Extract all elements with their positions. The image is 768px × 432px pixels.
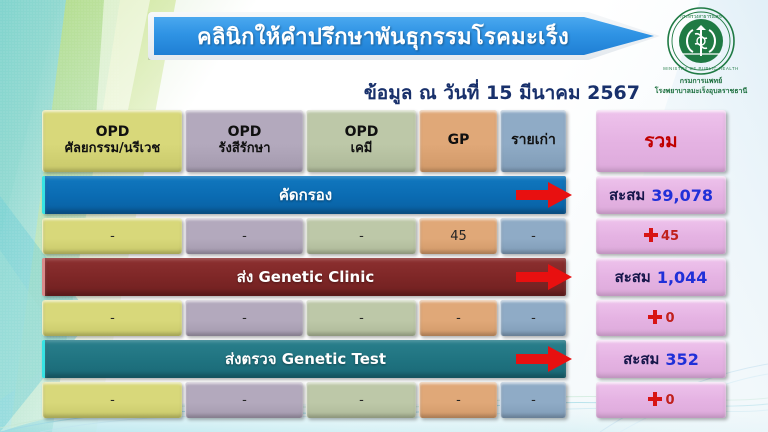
summary-cumulative-value: 1,044 xyxy=(657,268,708,287)
table-cell: - xyxy=(500,300,566,336)
pointer-arrow-icon xyxy=(516,346,572,372)
table-cell: - xyxy=(42,218,182,254)
table-cell: - xyxy=(306,218,416,254)
slide-title-banner: คลินิกให้คำปรึกษาพันธุกรรมโรคมะเร็ง xyxy=(148,12,660,60)
ministry-seal-icon: กระทรวงสาธารณสุข MINISTRY OF PUBLIC HEAL… xyxy=(659,6,743,76)
table-cell: - xyxy=(419,300,497,336)
summary-prefix-label: สะสม xyxy=(609,183,645,207)
column-header-line2: รังสีรักษา xyxy=(219,141,271,157)
summary-increment-value: 0 xyxy=(665,311,674,326)
svg-text:กระทรวงสาธารณสุข: กระทรวงสาธารณสุข xyxy=(680,14,721,20)
table-cell: - xyxy=(42,382,182,418)
table-cell: - xyxy=(185,218,303,254)
column-header-line2: ศัลยกรรม/นรีเวช xyxy=(65,141,160,157)
column-header-line1: รายเก่า xyxy=(511,133,556,148)
page-title: คลินิกให้คำปรึกษาพันธุกรรมโรคมะเร็ง xyxy=(197,19,611,54)
table-cell: - xyxy=(185,382,303,418)
summary-prefix-label: สะสม xyxy=(615,265,651,289)
table-cell: 45 xyxy=(419,218,497,254)
plus-icon xyxy=(643,226,659,246)
column-header-line1: OPD xyxy=(228,125,262,140)
table-cell: - xyxy=(500,382,566,418)
column-header-5: รายเก่า xyxy=(500,110,566,172)
data-as-of-date: ข้อมูล ณ วันที่ 15 มีนาคม 2567 xyxy=(364,78,640,108)
banner-label-blue: คัดกรอง xyxy=(42,176,566,214)
table-cell: - xyxy=(306,382,416,418)
summary-cumulative-value: 39,078 xyxy=(651,186,713,205)
pointer-arrow-icon xyxy=(516,182,572,208)
summary-header-text: รวม xyxy=(644,126,677,156)
summary-prefix-label: สะสม xyxy=(623,347,659,371)
banner-label-text: ส่ง Genetic Clinic xyxy=(237,265,374,289)
title-banner-fill: คลินิกให้คำปรึกษาพันธุกรรมโรคมะเร็ง xyxy=(154,17,654,55)
table-cell: - xyxy=(419,382,497,418)
column-header-line1: GP xyxy=(448,133,470,148)
banner-label-maroon: ส่ง Genetic Clinic xyxy=(42,258,566,296)
summary-cumulative-cell: สะสม39,078 xyxy=(596,176,726,214)
summary-column-header: รวม xyxy=(596,110,726,172)
summary-increment-value: 0 xyxy=(665,393,674,408)
banner-label-text: คัดกรอง xyxy=(279,183,332,207)
summary-cumulative-cell: สะสม352 xyxy=(596,340,726,378)
summary-column: รวมสะสม39,07845สะสม1,0440สะสม3520 xyxy=(596,110,726,418)
column-header-line1: OPD xyxy=(96,125,130,140)
column-header-line2: เคมี xyxy=(351,141,373,157)
logo-caption-line2: โรงพยาบาลมะเร็งอุบลราชธานี xyxy=(655,87,748,96)
summary-increment-cell: 0 xyxy=(596,300,726,336)
pointer-arrow-icon xyxy=(516,264,572,290)
column-header-3: OPDเคมี xyxy=(306,110,416,172)
summary-increment-value: 45 xyxy=(661,229,679,244)
column-header-line1: OPD xyxy=(345,125,379,140)
logo-caption-line1: กรมการแพทย์ xyxy=(680,77,722,86)
summary-increment-cell: 0 xyxy=(596,382,726,418)
table-cell: - xyxy=(500,218,566,254)
ministry-logo: กระทรวงสาธารณสุข MINISTRY OF PUBLIC HEAL… xyxy=(638,6,764,96)
table-cell: - xyxy=(42,300,182,336)
summary-cumulative-value: 352 xyxy=(665,350,698,369)
column-header-2: OPDรังสีรักษา xyxy=(185,110,303,172)
summary-increment-cell: 45 xyxy=(596,218,726,254)
banner-label-teal: ส่งตรวจ Genetic Test xyxy=(42,340,566,378)
table-cell: - xyxy=(185,300,303,336)
banner-label-text: ส่งตรวจ Genetic Test xyxy=(225,347,386,371)
plus-icon xyxy=(647,308,663,328)
column-header-1: OPDศัลยกรรม/นรีเวช xyxy=(42,110,182,172)
svg-text:MINISTRY OF PUBLIC HEALTH: MINISTRY OF PUBLIC HEALTH xyxy=(663,66,739,71)
column-header-4: GP xyxy=(419,110,497,172)
plus-icon xyxy=(647,390,663,410)
table-cell: - xyxy=(306,300,416,336)
summary-cumulative-cell: สะสม1,044 xyxy=(596,258,726,296)
